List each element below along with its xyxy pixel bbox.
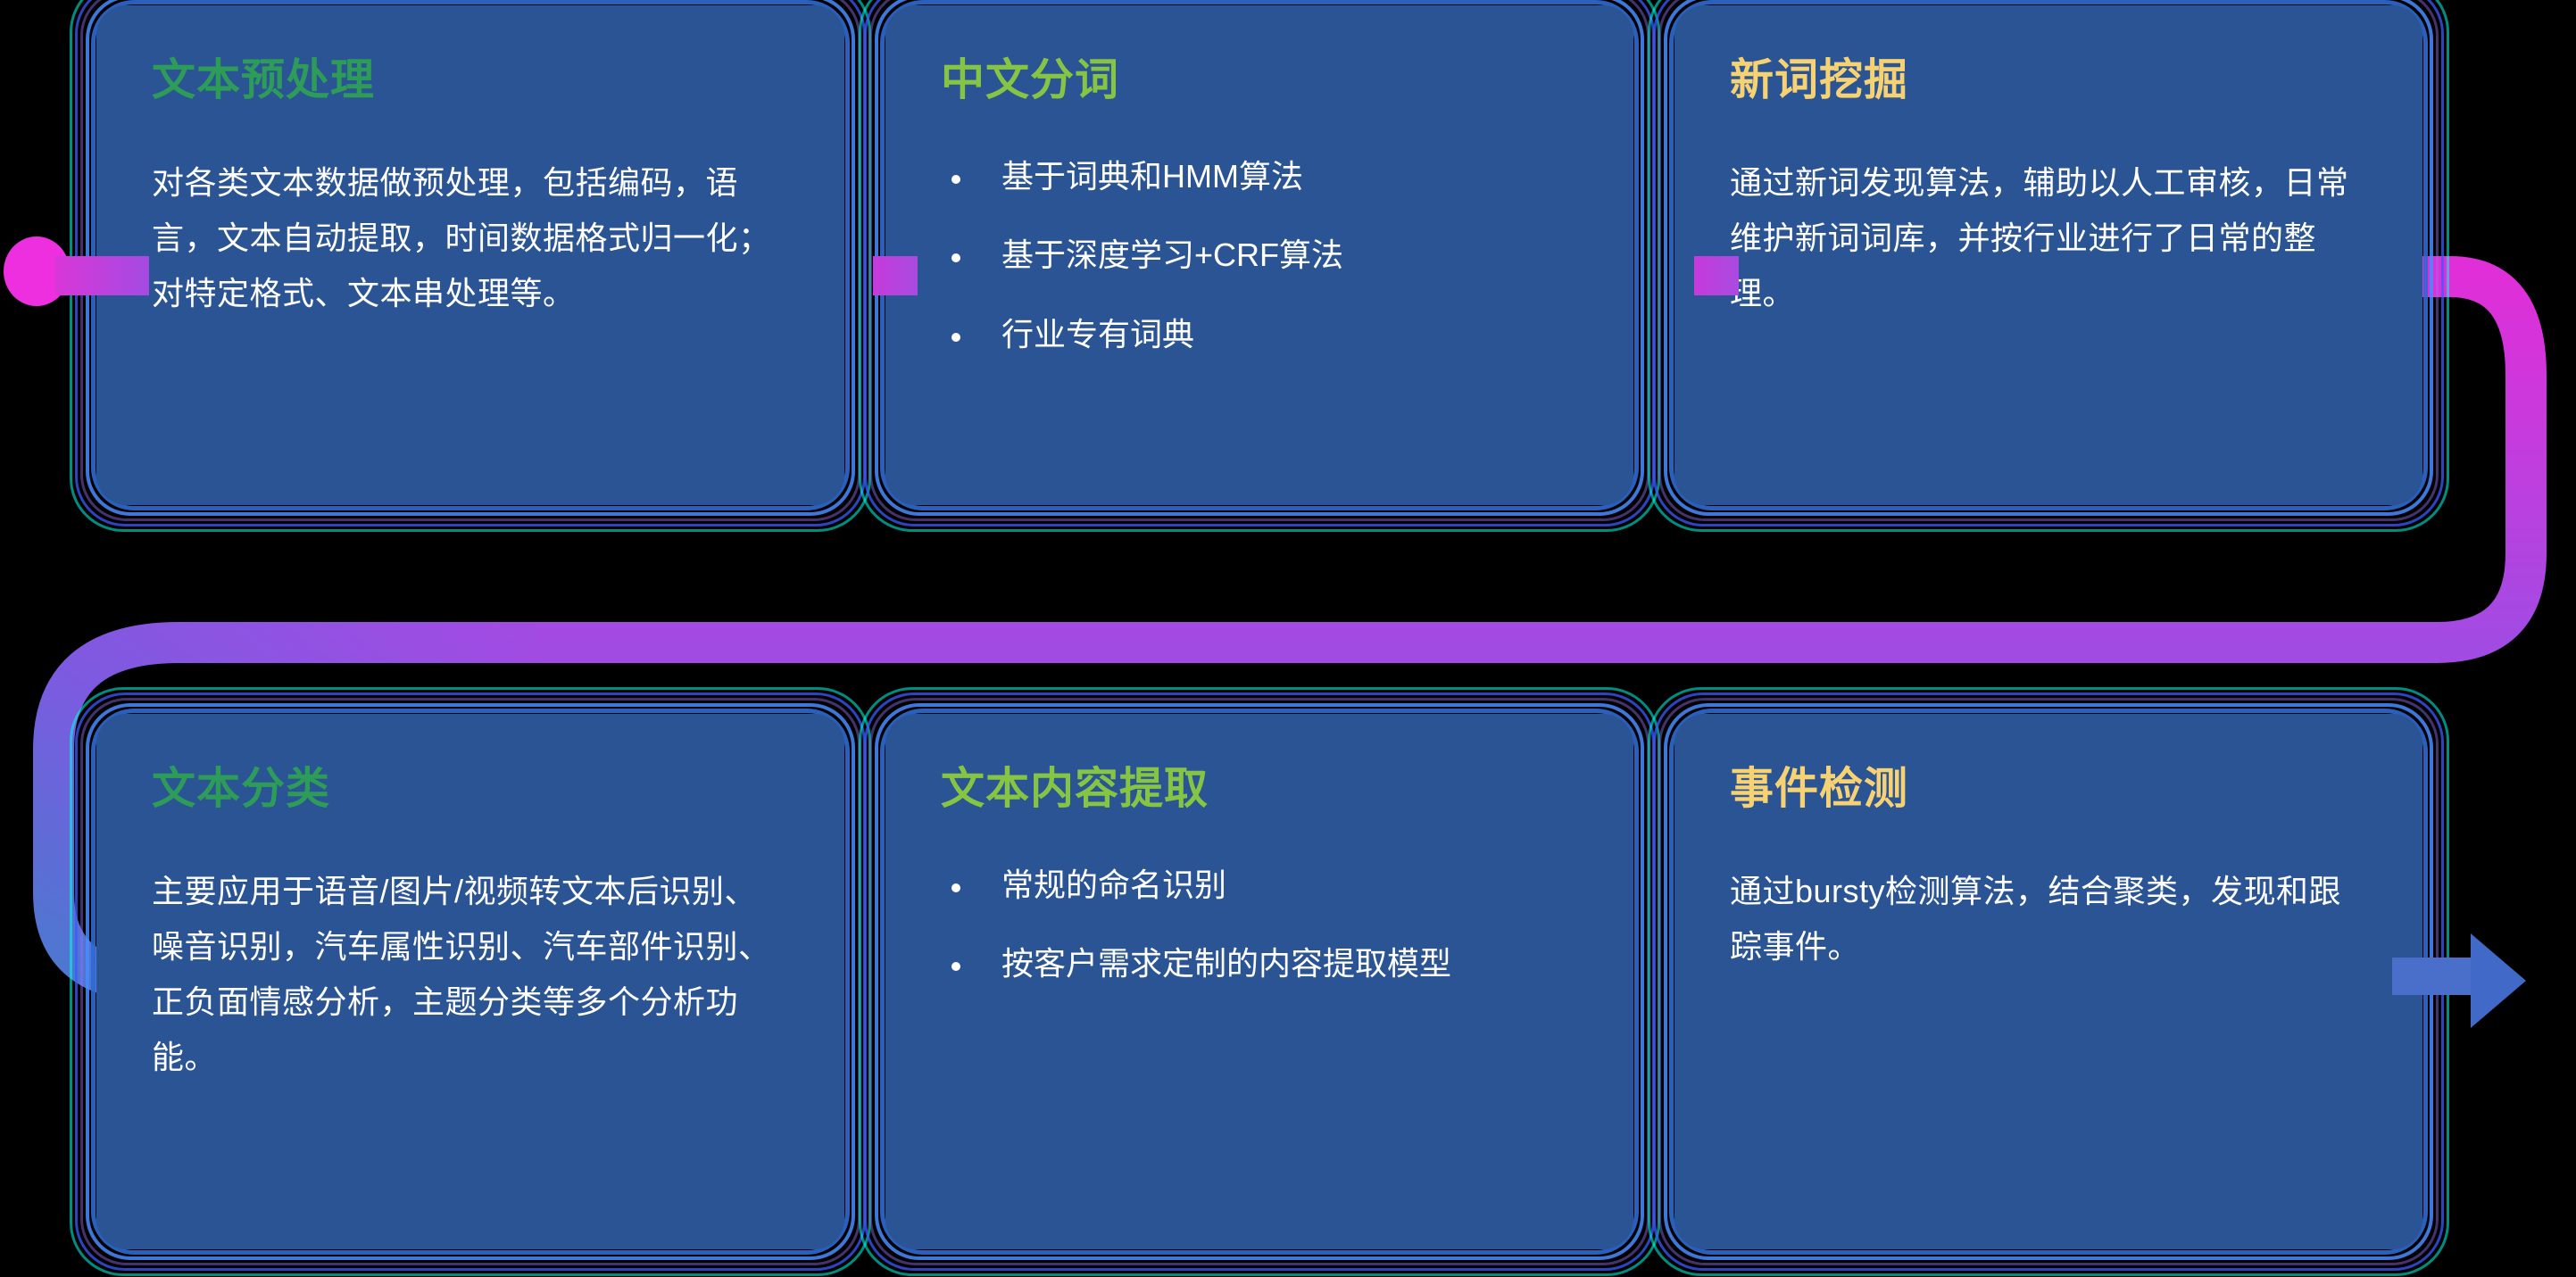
card-new-word-discovery[interactable]: 新词挖掘 通过新词发现算法，辅助以人工审核，日常维护新词词库，并按行业进行了日常…	[1674, 5, 2422, 505]
card-paragraph: 对各类文本数据做预处理，包括编码，语言，文本自动提取，时间数据格式归一化；对特定…	[152, 155, 789, 321]
card-paragraph: 主要应用于语音/图片/视频转文本后识别、噪音识别，汽车属性识别、汽车部件识别、正…	[152, 864, 789, 1085]
card-paragraph: 通过bursty检测算法，结合聚类，发现和跟踪事件。	[1730, 864, 2367, 974]
card-title: 文本内容提取	[941, 766, 1578, 814]
diagram-stage: 文本预处理 对各类文本数据做预处理，包括编码，语言，文本自动提取，时间数据格式归…	[0, 0, 2576, 1277]
list-item: 按客户需求定制的内容提取模型	[941, 942, 1578, 986]
card-title: 文本预处理	[152, 57, 789, 105]
card-bullet-list: 常规的命名识别 按客户需求定制的内容提取模型	[941, 864, 1578, 986]
list-item: 基于词典和HMM算法	[941, 155, 1578, 199]
card-text-content-extraction[interactable]: 文本内容提取 常规的命名识别 按客户需求定制的内容提取模型	[885, 714, 1633, 1249]
flow-end-bar	[2392, 958, 2481, 995]
flow-end-arrow-icon	[2471, 933, 2526, 1028]
flow-start-bar	[55, 256, 149, 295]
card-row-1: 文本预处理 对各类文本数据做预处理，包括编码，语言，文本自动提取，时间数据格式归…	[96, 5, 2422, 505]
card-title: 中文分词	[941, 57, 1578, 105]
list-item: 常规的命名识别	[941, 864, 1578, 908]
card-paragraph: 通过新词发现算法，辅助以人工审核，日常维护新词词库，并按行业进行了日常的整理。	[1730, 155, 2367, 321]
card-title: 文本分类	[152, 766, 789, 814]
card-event-detection[interactable]: 事件检测 通过bursty检测算法，结合聚类，发现和跟踪事件。	[1674, 714, 2422, 1249]
card-text-preprocessing[interactable]: 文本预处理 对各类文本数据做预处理，包括编码，语言，文本自动提取，时间数据格式归…	[96, 5, 844, 505]
card-title: 新词挖掘	[1730, 57, 2367, 105]
card-chinese-word-segmentation[interactable]: 中文分词 基于词典和HMM算法 基于深度学习+CRF算法 行业专有词典	[885, 5, 1633, 505]
flow-connector-stub-1	[873, 256, 918, 295]
flow-connector-stub-2	[1694, 256, 1739, 295]
card-row-2: 文本分类 主要应用于语音/图片/视频转文本后识别、噪音识别，汽车属性识别、汽车部…	[96, 714, 2422, 1249]
card-text-classification[interactable]: 文本分类 主要应用于语音/图片/视频转文本后识别、噪音识别，汽车属性识别、汽车部…	[96, 714, 844, 1249]
card-bullet-list: 基于词典和HMM算法 基于深度学习+CRF算法 行业专有词典	[941, 155, 1578, 357]
list-item: 行业专有词典	[941, 313, 1578, 357]
list-item: 基于深度学习+CRF算法	[941, 234, 1578, 278]
card-title: 事件检测	[1730, 766, 2367, 814]
